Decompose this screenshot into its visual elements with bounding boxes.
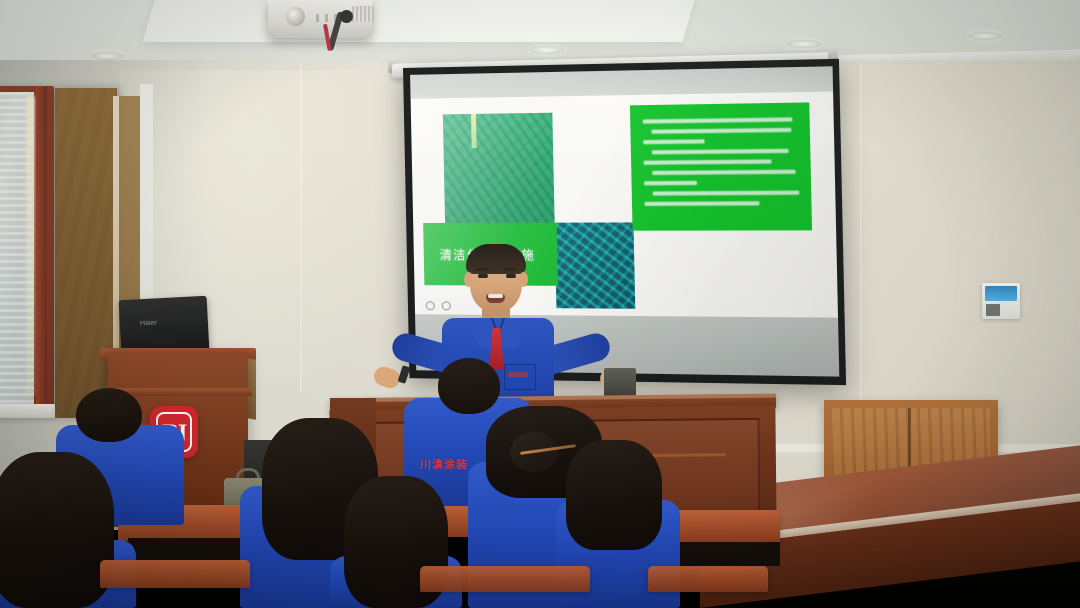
control-panel-keypad[interactable] [986,304,1000,316]
presenter-wristwatch [398,365,411,384]
desk-object [604,368,636,398]
presenter-ear-right [519,272,528,287]
slide-text-line [643,117,793,123]
chair-back[interactable] [100,560,250,588]
presenter-brow-right [504,268,517,271]
slide-text-line [652,170,796,175]
slide-text-line [644,159,772,164]
slide-image-bamboo-large [443,113,555,233]
downlight-left [90,52,124,60]
attendee-uniform-text: 川滇涂装 [420,456,468,472]
downlight-right [530,46,564,54]
presenter-chest-pocket [504,364,536,390]
downlight-far [786,40,822,48]
attendee-hair-long [0,452,114,608]
window-mullion [36,86,47,416]
projector-vent [352,6,374,22]
slide-text-line [644,181,696,186]
chair-back[interactable] [648,566,768,592]
slide-text-line [652,149,789,155]
monitor-brand-label: Haier [140,320,157,328]
conference-room-scene: 清洁化生产措施 [0,0,1080,608]
control-panel-display [985,286,1017,301]
presenter-hair [466,244,526,274]
wall-seam-1 [860,62,862,442]
slide-text-line [653,191,800,196]
projector-lens-icon [286,7,305,26]
projector-plug [340,10,353,23]
wall-seam-2 [300,62,302,392]
attendee-head [76,388,142,442]
presenter-ear-left [464,272,473,287]
presenter-mouth [486,294,505,303]
presenter-eye-right [506,274,516,278]
slide-text-line [645,201,760,206]
ceiling-recess-panel [143,0,698,42]
slide-text-line [651,128,791,134]
window-sill [0,404,56,418]
monitor-stand [152,325,177,344]
attendee-hair-long [566,440,662,550]
window-light-streak [26,96,35,396]
slide-text-line [643,139,705,144]
slide-body-text-box [630,102,812,230]
downlight-edge [968,32,1002,40]
presenter-eye-left [478,274,488,278]
chair-back[interactable] [420,566,590,592]
attendee-head [438,358,500,414]
presenter-name-badge [508,372,528,377]
presenter-brow-left [476,268,489,271]
